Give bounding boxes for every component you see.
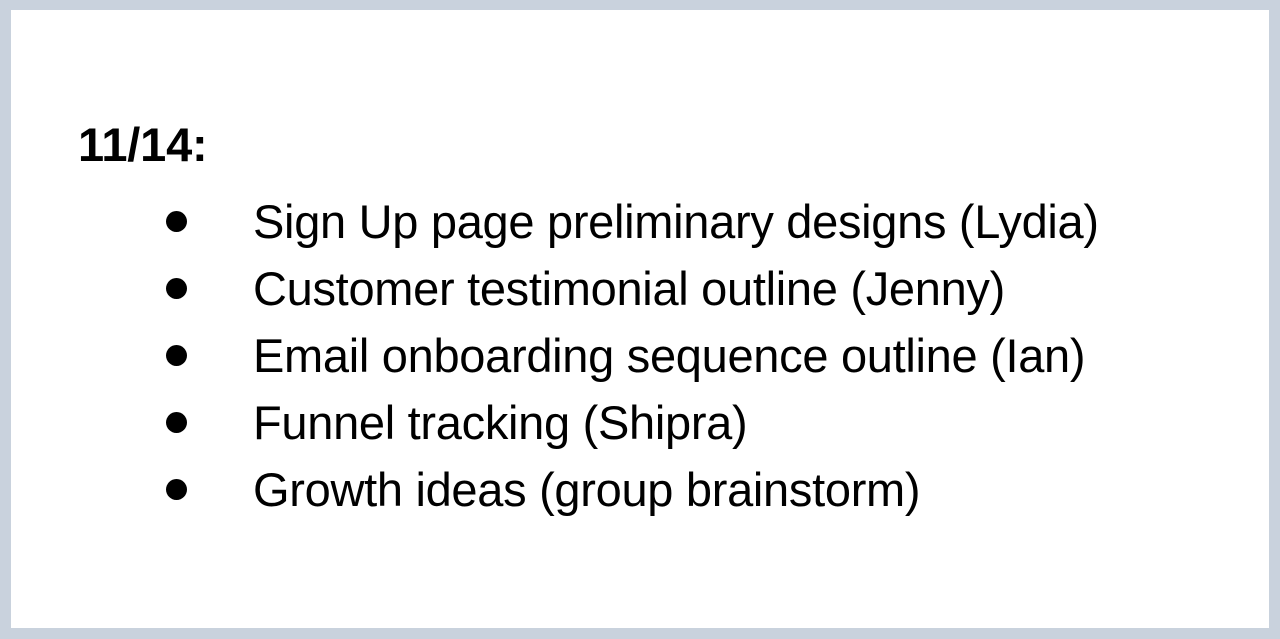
list-item[interactable]: Growth ideas (group brainstorm) bbox=[11, 456, 1269, 523]
list-item[interactable]: Sign Up page preliminary designs (Lydia) bbox=[11, 188, 1269, 255]
list-item-label: Email onboarding sequence outline (Ian) bbox=[253, 332, 1085, 379]
list-item-label: Funnel tracking (Shipra) bbox=[253, 399, 747, 446]
list-item-label: Customer testimonial outline (Jenny) bbox=[253, 265, 1005, 312]
list-item[interactable]: Email onboarding sequence outline (Ian) bbox=[11, 322, 1269, 389]
bullet-point-icon bbox=[166, 211, 187, 232]
slide-heading[interactable]: 11/14: bbox=[78, 115, 207, 173]
list-item-label: Growth ideas (group brainstorm) bbox=[253, 466, 920, 513]
date-heading-label: 11/14: bbox=[78, 121, 207, 168]
bullet-point-icon bbox=[166, 278, 187, 299]
slide-canvas[interactable]: 11/14: Sign Up page preliminary designs … bbox=[11, 10, 1269, 628]
agenda-bullet-list: Sign Up page preliminary designs (Lydia)… bbox=[11, 188, 1269, 523]
bullet-point-icon bbox=[166, 479, 187, 500]
bullet-point-icon bbox=[166, 345, 187, 366]
list-item-label: Sign Up page preliminary designs (Lydia) bbox=[253, 198, 1099, 245]
list-item[interactable]: Funnel tracking (Shipra) bbox=[11, 389, 1269, 456]
slide-frame: 11/14: Sign Up page preliminary designs … bbox=[0, 0, 1280, 639]
bullet-point-icon bbox=[166, 412, 187, 433]
slide-body: 11/14: Sign Up page preliminary designs … bbox=[11, 10, 1269, 628]
list-item[interactable]: Customer testimonial outline (Jenny) bbox=[11, 255, 1269, 322]
